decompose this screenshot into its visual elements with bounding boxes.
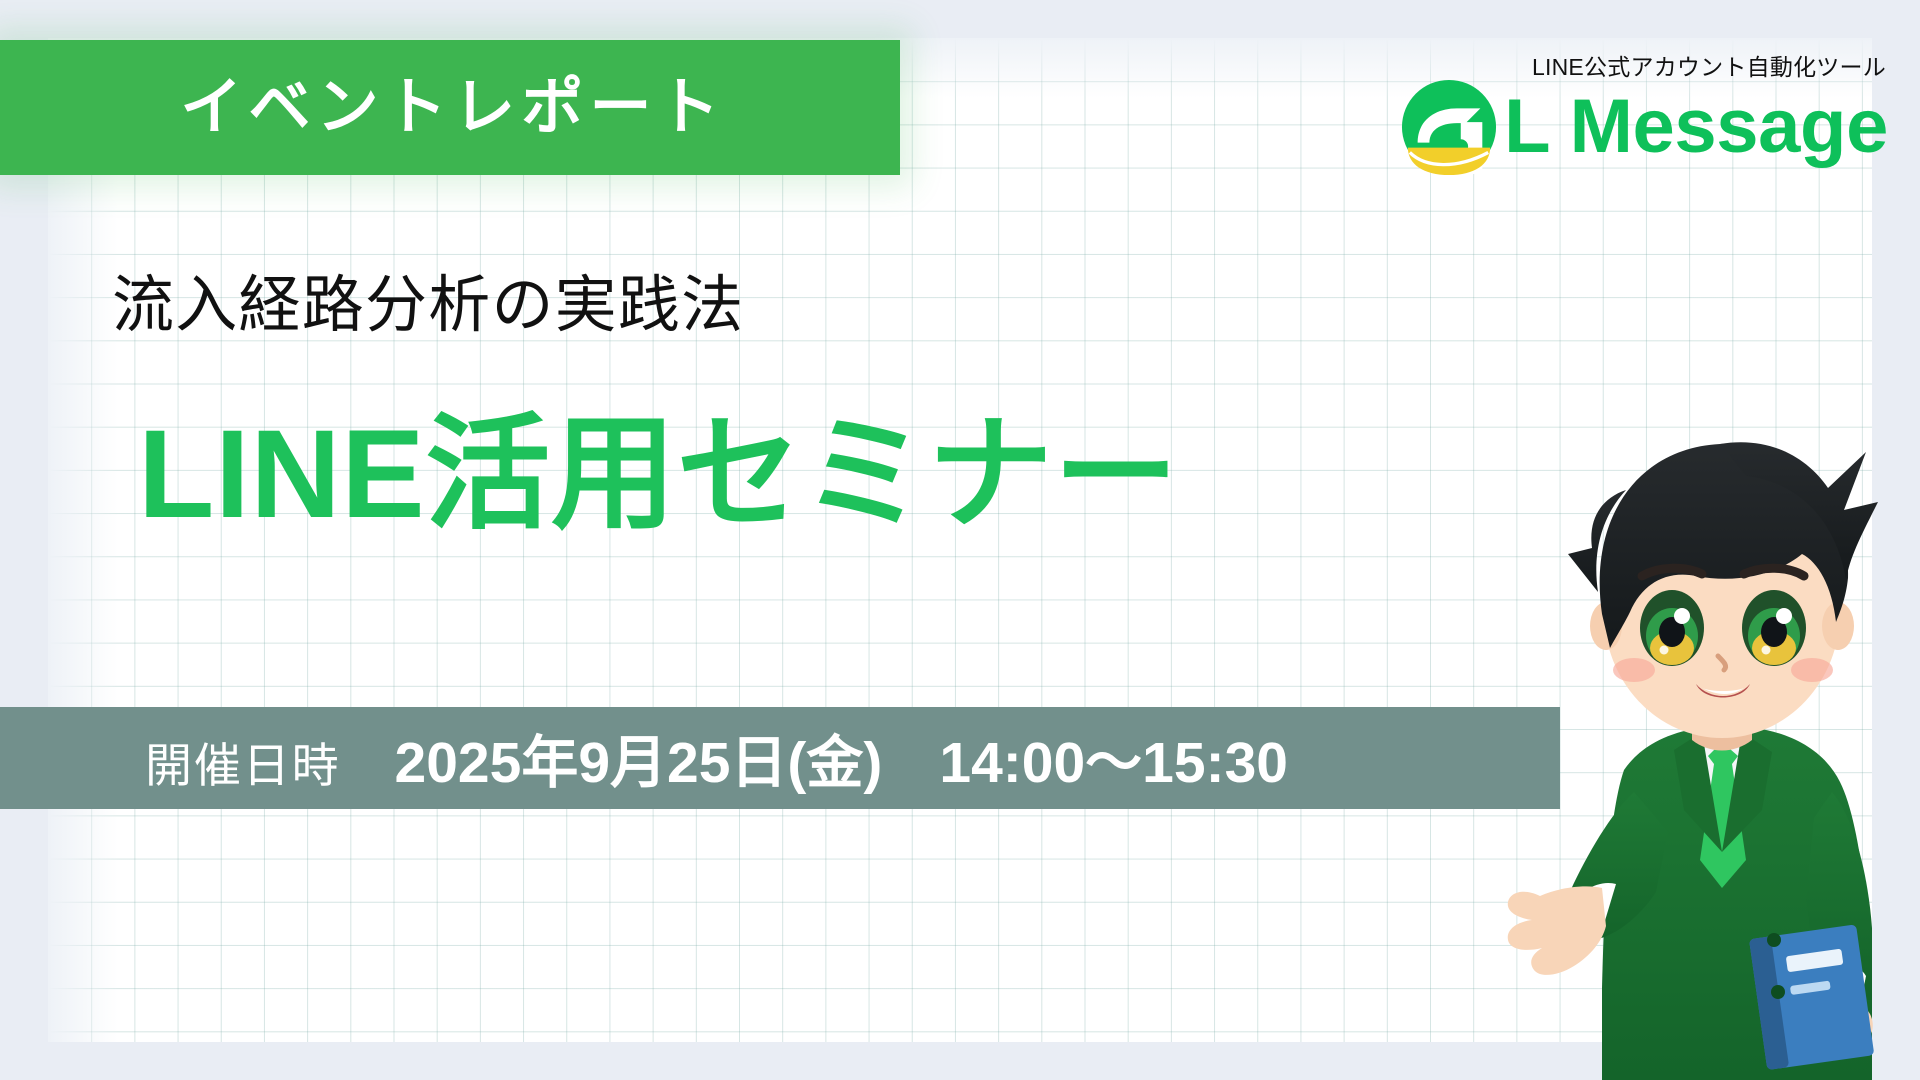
schedule-value: 2025年9月25日(金) 14:00〜15:30 [395, 717, 1288, 799]
l-message-logo-mark-icon [1400, 78, 1498, 176]
seminar-headline: LINE活用セミナー [138, 406, 1179, 544]
brand-tagline: LINE公式アカウント自動化ツール [1532, 48, 1886, 82]
brand-wordmark: L Message [1504, 91, 1888, 163]
schedule-label: 開催日時 [145, 727, 341, 796]
schedule-bar: 開催日時 2025年9月25日(金) 14:00〜15:30 [0, 707, 1560, 809]
seminar-banner-canvas: イベントレポート LINE公式アカウント自動化ツール L Message 流入経… [0, 0, 1920, 1080]
card-left-fade [48, 38, 118, 1042]
schedule-bar-inner: 開催日時 2025年9月25日(金) 14:00〜15:30 [0, 717, 1288, 799]
brand-logo-row: L Message [1400, 78, 1888, 176]
presenter-character-illustration [1506, 340, 1920, 1080]
brand-logo-block: LINE公式アカウント自動化ツール L Message [1370, 48, 1890, 173]
event-report-banner: イベントレポート [0, 40, 900, 175]
seminar-subtitle: 流入経路分析の実践法 [112, 272, 744, 340]
event-report-banner-label: イベントレポート [174, 77, 726, 139]
